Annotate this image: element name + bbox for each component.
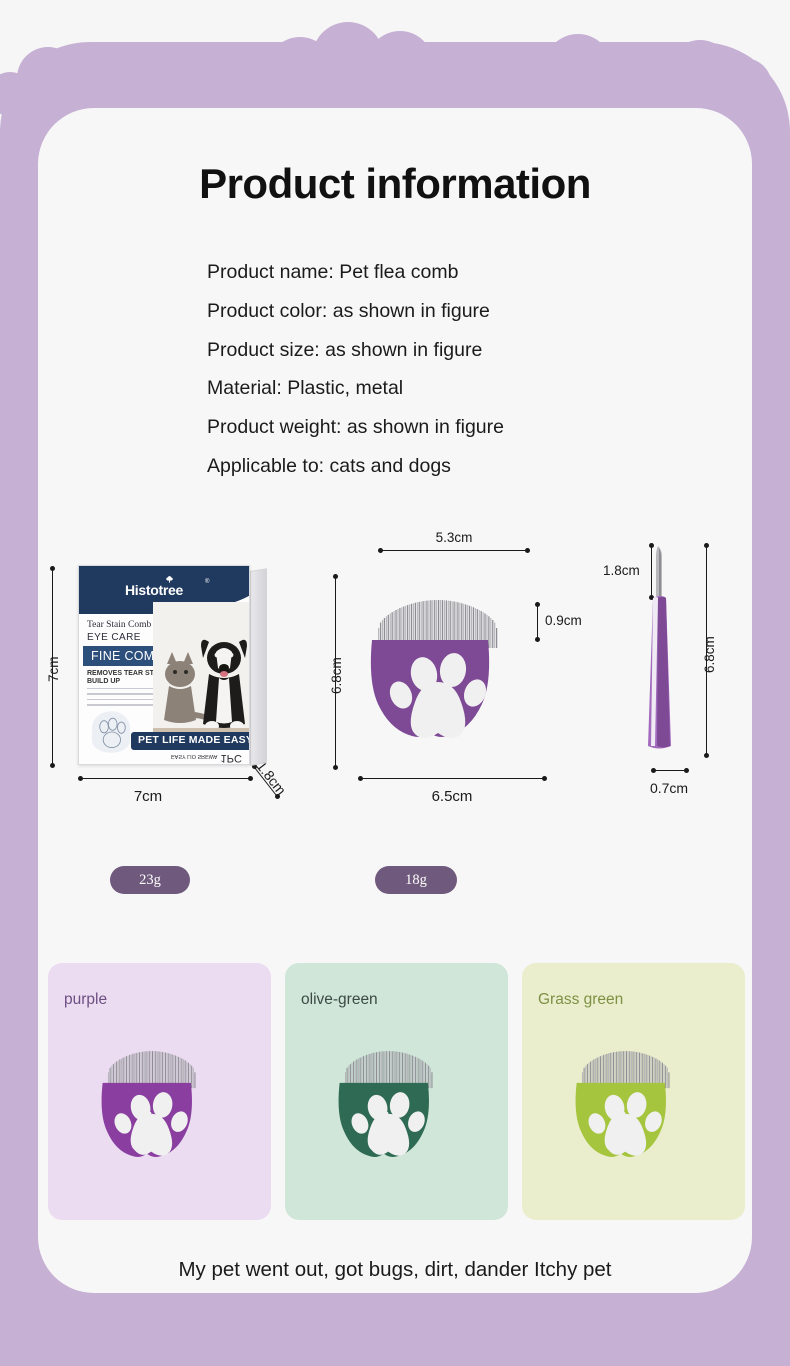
box-quantity-label: EASY LIO SREWA 1PC	[171, 752, 242, 764]
cloud-bump	[17, 47, 79, 109]
spec-row: Product weight: as shown in figure	[207, 408, 727, 447]
weight-badge-comb: 18g	[375, 866, 457, 894]
color-option-card[interactable]: Grass green	[522, 963, 745, 1220]
color-option-label: Grass green	[538, 991, 623, 1009]
dim-label-box-height: 7cm	[46, 656, 61, 682]
dim-dot	[50, 763, 55, 768]
color-option-comb-image	[559, 1035, 709, 1186]
dim-label-side-teeth: 1.8cm	[603, 563, 640, 578]
dim-label-teeth-width: 5.3cm	[436, 530, 473, 545]
figure-row: 7cm 7cm 1.8cm Histotree	[0, 520, 790, 850]
dim-dot	[333, 765, 338, 770]
dim-dot	[651, 768, 656, 773]
registered-mark-icon: ®	[205, 579, 209, 585]
dim-label-body-width: 6.5cm	[432, 788, 473, 805]
spec-list: Product name: Pet flea comb Product colo…	[207, 253, 727, 486]
dim-dot	[704, 753, 709, 758]
spec-row: Product size: as shown in figure	[207, 331, 727, 370]
box-quantity-sub: EASY LIO SREWA	[171, 753, 217, 759]
package-box-image: Histotree ® Tear Stain Comb EYE CARE FIN…	[78, 565, 268, 785]
box-side-panel	[250, 568, 267, 766]
spec-row: Product color: as shown in figure	[207, 292, 727, 331]
color-option-card[interactable]: olive-green	[285, 963, 508, 1220]
color-options-row: purpleolive-greenGrass green	[48, 963, 745, 1220]
product-info-page: Product information Product name: Pet fl…	[0, 0, 790, 1366]
dim-label-teeth-height: 0.9cm	[545, 613, 582, 628]
spec-row: Material: Plastic, metal	[207, 369, 727, 408]
box-front-panel: Histotree ® Tear Stain Comb EYE CARE FIN…	[78, 565, 250, 765]
color-option-comb-image	[85, 1035, 235, 1186]
cloud-bump	[146, 52, 206, 112]
box-brand-name: Histotree	[125, 582, 183, 598]
dim-dot	[704, 543, 709, 548]
dim-label-side-thickness: 0.7cm	[650, 780, 688, 796]
spec-row: Applicable to: cats and dogs	[207, 447, 727, 486]
color-option-label: purple	[64, 991, 107, 1009]
color-option-card[interactable]: purple	[48, 963, 271, 1220]
dim-dot	[542, 776, 547, 781]
box-footer-label: PET LIFE MADE EASY	[138, 734, 250, 746]
dim-dot	[525, 548, 530, 553]
box-quantity-value: 1PC	[221, 752, 242, 764]
dim-dot	[333, 574, 338, 579]
dim-line-side-thickness	[653, 770, 687, 771]
dim-label-box-width: 7cm	[134, 788, 162, 805]
box-footer-banner: PET LIFE MADE EASY	[131, 732, 250, 750]
dim-dot	[50, 566, 55, 571]
dim-label-comb-height: 6.8cm	[329, 657, 344, 694]
dim-line-teeth-width	[380, 550, 528, 551]
comb-front-image	[350, 578, 550, 768]
dim-dot	[684, 768, 689, 773]
dim-label-side-height: 6.8cm	[702, 636, 717, 673]
box-pet-photo	[153, 602, 250, 740]
dim-dot	[358, 776, 363, 781]
dim-dot	[378, 548, 383, 553]
dim-line-body-width	[360, 778, 545, 779]
cloud-bump	[716, 58, 772, 114]
box-line-2: EYE CARE	[87, 632, 141, 643]
bottom-caption: My pet went out, got bugs, dirt, dander …	[38, 1258, 752, 1282]
page-title: Product information	[38, 160, 752, 208]
color-option-label: olive-green	[301, 991, 378, 1009]
comb-side-image	[640, 540, 680, 760]
paw-watermark-icon	[85, 706, 137, 758]
color-option-comb-image	[322, 1035, 472, 1186]
box-line-1: Tear Stain Comb	[87, 620, 151, 630]
weight-badge-box: 23g	[110, 866, 190, 894]
spec-row: Product name: Pet flea comb	[207, 253, 727, 292]
